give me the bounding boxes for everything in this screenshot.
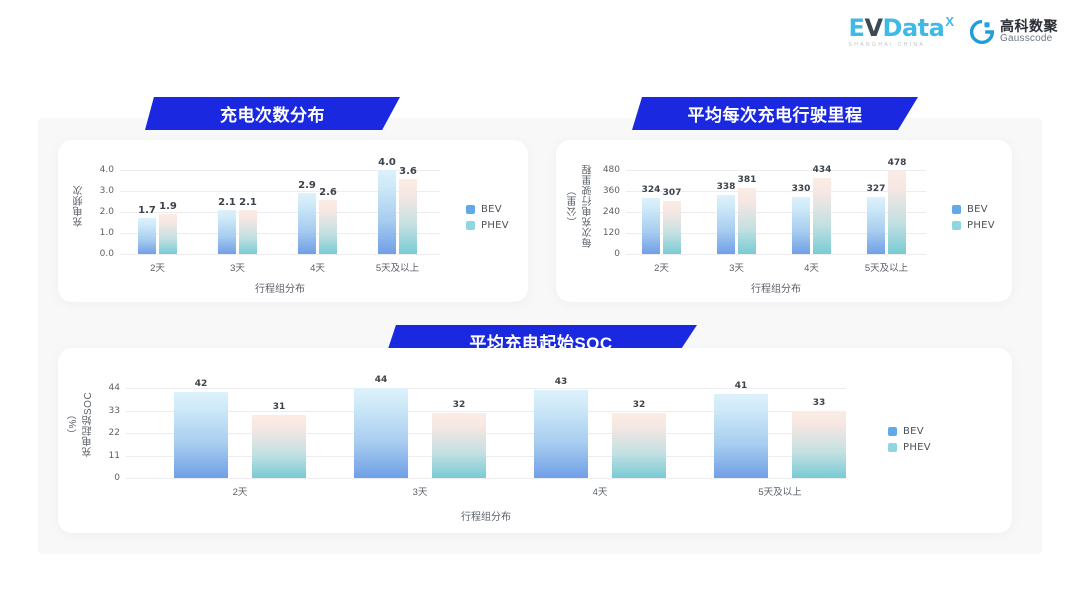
bar-value-label: 434 [813,165,832,175]
gridline [626,170,926,171]
legend-item-phev[interactable]: PHEV [952,220,995,231]
x-axis-tick: 5天及以上 [865,260,908,274]
bar-value-label: 307 [663,188,682,198]
bar-phev-3天 [239,210,257,254]
chart-1-title-banner: 充电次数分布 [145,97,400,130]
bar-value-label: 41 [735,381,748,391]
evdata-text: EVData [849,16,945,40]
chart-2-plot: 每次充电行驶里程（公里）01202403604803243072天3383813… [556,140,1012,302]
gridline [120,254,440,255]
y-axis-tick: 2.0 [58,207,114,217]
y-axis-tick: 360 [556,186,620,196]
evdata-tagline: SHANGHAI CHINA [849,42,926,48]
y-axis-tick: 240 [556,207,620,217]
legend-swatch-phev-icon [888,443,897,452]
chart-1-xlabel: 行程组分布 [255,280,305,295]
x-axis-tick: 2天 [233,484,248,498]
gausscode-en: Gausscode [1000,34,1058,45]
chart-2-card: 每次充电行驶里程（公里）01202403604803243072天3383813… [556,140,1012,302]
bar-bev-4天 [792,197,810,255]
bar-value-label: 4.0 [378,157,396,168]
y-axis-tick: 0.0 [58,249,114,259]
y-axis-tick: 3.0 [58,186,114,196]
legend-item-phev[interactable]: PHEV [888,442,931,453]
bar-bev-5天及以上 [867,197,885,254]
bar-bev-3天 [717,195,735,254]
gridline [126,478,846,479]
evdata-prefix: E [849,14,865,42]
legend-label: PHEV [967,220,995,231]
chart-3-xlabel: 行程组分布 [461,508,511,523]
bar-value-label: 42 [195,379,208,389]
x-axis-tick: 2天 [654,260,669,274]
legend-label: BEV [967,204,988,215]
gausscode-mark-icon [970,20,994,44]
legend-label: BEV [903,426,924,437]
bar-bev-5天及以上 [714,394,768,478]
bar-value-label: 2.9 [298,180,316,191]
y-axis-tick: 120 [556,228,620,238]
gausscode-text: 高科数聚 Gausscode [1000,19,1058,44]
legend-swatch-bev-icon [466,205,475,214]
chart-1-legend: BEVPHEV [466,204,509,231]
chart-3-card: 充电起始SOC（%）01122334442312天44323天43324天413… [58,348,1012,533]
legend-swatch-phev-icon [466,221,475,230]
legend-item-phev[interactable]: PHEV [466,220,509,231]
bar-phev-2天 [159,214,177,254]
bar-bev-3天 [354,388,408,478]
legend-item-bev[interactable]: BEV [952,204,995,215]
evdata-mid: V [864,14,882,42]
x-axis-tick: 5天及以上 [758,484,801,498]
evdata-rest: Data [883,14,945,42]
chart-1-title: 充电次数分布 [220,101,325,126]
legend-item-bev[interactable]: BEV [466,204,509,215]
y-axis-tick: 0 [556,249,620,259]
bar-phev-5天及以上 [399,179,417,254]
x-axis-tick: 3天 [230,260,245,274]
bar-value-label: 338 [717,182,736,192]
bar-phev-3天 [432,413,486,478]
bar-bev-4天 [298,193,316,254]
legend-label: PHEV [903,442,931,453]
y-axis-tick: 1.0 [58,228,114,238]
y-axis-tick: 480 [556,165,620,175]
x-axis-tick: 3天 [413,484,428,498]
legend-swatch-bev-icon [952,205,961,214]
chart-2-title: 平均每次充电行驶里程 [688,101,863,126]
bar-value-label: 2.6 [319,187,337,198]
bar-value-label: 2.1 [218,197,236,208]
bar-phev-4天 [612,413,666,478]
bar-value-label: 381 [738,175,757,185]
legend-swatch-phev-icon [952,221,961,230]
x-axis-tick: 3天 [729,260,744,274]
bar-phev-2天 [252,415,306,478]
x-axis-tick: 4天 [593,484,608,498]
y-axis-tick: 0 [58,473,120,483]
bar-value-label: 32 [633,400,646,410]
chart-3-legend: BEVPHEV [888,426,931,453]
x-axis-tick: 4天 [804,260,819,274]
y-axis-tick: 44 [58,383,120,393]
bar-value-label: 32 [453,400,466,410]
gausscode-cn: 高科数聚 [1000,19,1058,34]
evdata-logo: EVData X SHANGHAI CHINA [849,16,954,48]
bar-value-label: 478 [888,158,907,168]
bar-bev-2天 [642,198,660,254]
bar-bev-4天 [534,390,588,478]
bar-bev-2天 [138,218,156,254]
y-axis-tick: 11 [58,451,120,461]
bar-value-label: 2.1 [239,197,257,208]
bar-phev-3天 [738,188,756,254]
chart-2-title-banner: 平均每次充电行驶里程 [632,97,918,130]
evdata-wordmark: EVData X [849,16,954,40]
gausscode-logo: 高科数聚 Gausscode [970,19,1058,44]
legend-item-bev[interactable]: BEV [888,426,931,437]
evdata-superscript-x: X [945,14,954,29]
chart-2-legend: BEVPHEV [952,204,995,231]
bar-phev-4天 [813,178,831,254]
gridline [626,254,926,255]
bar-value-label: 44 [375,375,388,385]
bar-value-label: 43 [555,377,568,387]
bar-value-label: 327 [867,184,886,194]
legend-label: PHEV [481,220,509,231]
y-axis-tick: 4.0 [58,165,114,175]
bar-value-label: 33 [813,398,826,408]
chart-2-xlabel: 行程组分布 [751,280,801,295]
chart-1-card: 充电频次0.01.02.03.04.01.71.92天2.12.13天2.92.… [58,140,528,302]
bar-value-label: 3.6 [399,166,417,177]
bar-phev-4天 [319,200,337,254]
bar-bev-3天 [218,210,236,254]
y-axis-tick: 22 [58,428,120,438]
bar-value-label: 330 [792,184,811,194]
bar-value-label: 31 [273,402,286,412]
bar-phev-5天及以上 [888,171,906,254]
bar-value-label: 1.9 [159,201,177,212]
legend-label: BEV [481,204,502,215]
x-axis-tick: 2天 [150,260,165,274]
bar-value-label: 324 [642,185,661,195]
y-axis-tick: 33 [58,406,120,416]
x-axis-tick: 5天及以上 [376,260,419,274]
bar-bev-2天 [174,392,228,478]
legend-swatch-bev-icon [888,427,897,436]
bar-phev-5天及以上 [792,411,846,478]
bar-phev-2天 [663,201,681,254]
brand-header: EVData X SHANGHAI CHINA 高科数聚 Gausscode [849,16,1058,48]
bar-bev-5天及以上 [378,170,396,254]
chart-1-plot: 充电频次0.01.02.03.04.01.71.92天2.12.13天2.92.… [58,140,528,302]
x-axis-tick: 4天 [310,260,325,274]
chart-3-plot: 充电起始SOC（%）01122334442312天44323天43324天413… [58,348,1012,533]
bar-value-label: 1.7 [138,205,156,216]
